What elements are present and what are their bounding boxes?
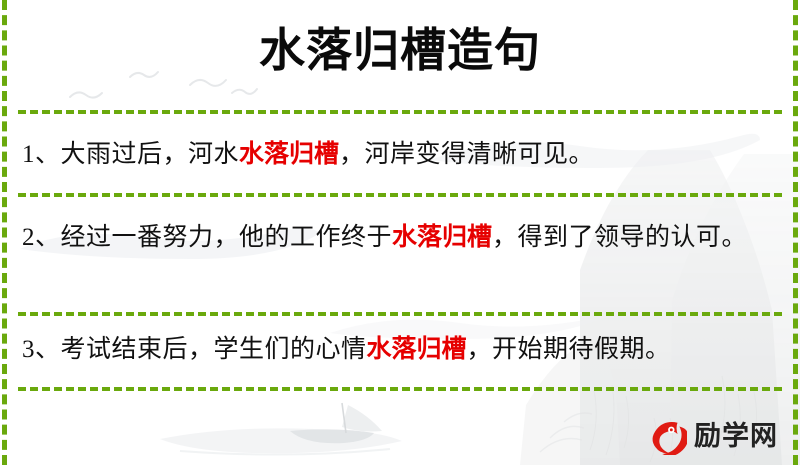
ink-wash-boat-watermark [120,395,440,465]
sentence-item-2: 2、经过一番努力，他的工作终于水落归槽，得到了领导的认可。 [22,216,774,258]
sentence-3-text-before: 3、考试结束后，学生们的心情 [22,336,367,363]
red-swirl-phoenix-logo-icon [649,417,687,455]
sentence-3-text-after: ，开始期待假期。 [467,336,671,363]
site-logo[interactable]: 励学网 [649,417,778,455]
divider-after-sentence-2 [18,312,782,316]
sentence-2-idiom-highlight: 水落归槽 [392,222,492,251]
site-logo-text: 励学网 [694,423,778,450]
sentence-item-3: 3、考试结束后，学生们的心情水落归槽，开始期待假期。 [22,328,774,370]
divider-after-sentence-3 [18,387,782,391]
sentence-2-text-after: ，得到了领导的认可。 [492,224,747,251]
sentence-1-idiom-highlight: 水落归槽 [239,139,339,168]
divider-after-sentence-1 [18,193,782,197]
sentence-item-1: 1、大雨过后，河水水落归槽，河岸变得清晰可见。 [22,133,774,175]
poster-root: 水落归槽造句 1、大雨过后，河水水落归槽，河岸变得清晰可见。 2、经过一番努力，… [0,0,800,465]
sentence-1-text-before: 1、大雨过后，河水 [22,141,239,168]
divider-below-title [18,110,782,114]
sentence-2-text-before: 2、经过一番努力，他的工作终于 [22,224,392,251]
sentence-3-idiom-highlight: 水落归槽 [367,334,467,363]
page-title: 水落归槽造句 [0,22,800,80]
sentence-1-text-after: ，河岸变得清晰可见。 [339,141,594,168]
